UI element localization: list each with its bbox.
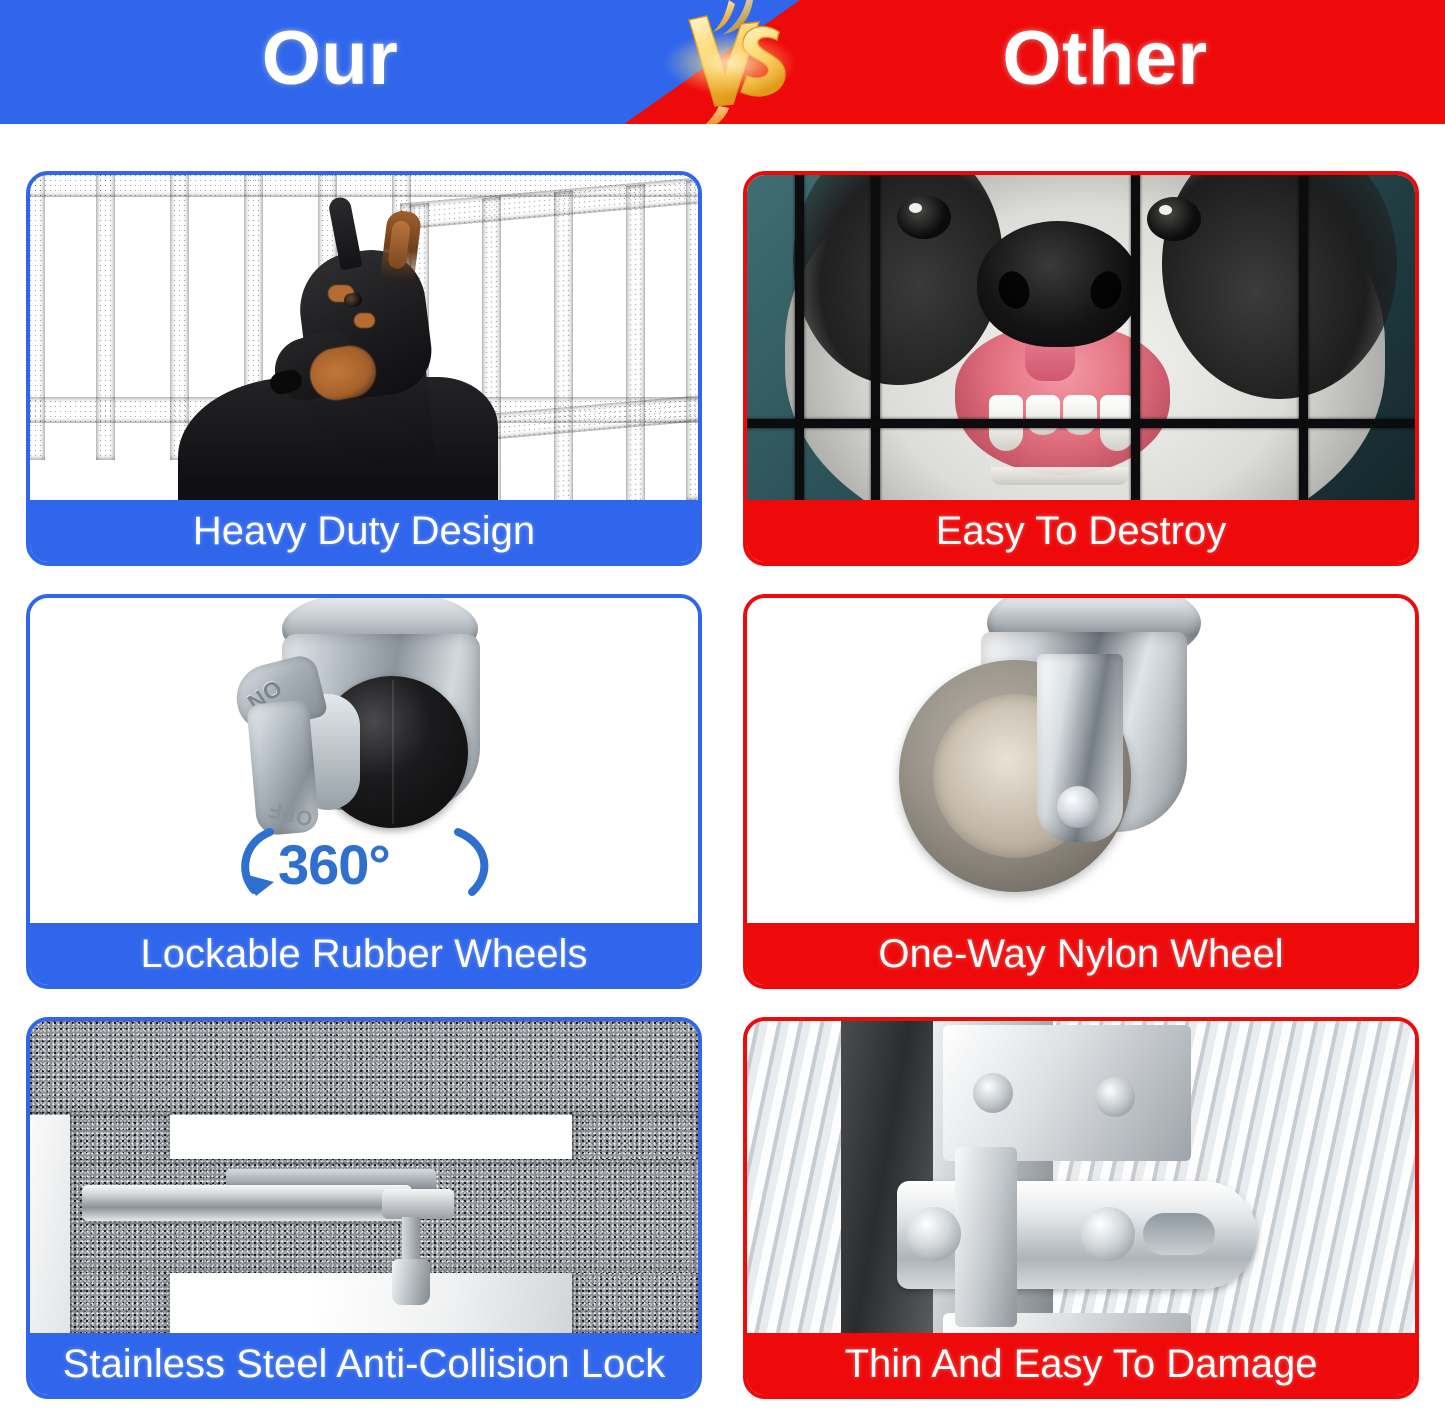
our-caption-anticollision-lock: Stainless Steel Anti-Collision Lock	[30, 1333, 698, 1395]
rotation-degrees-label: 360°	[278, 832, 390, 897]
tooth	[1026, 395, 1060, 435]
caster-brake-lever: ON OFF	[236, 662, 322, 834]
comparison-grid: Heavy Duty Design	[0, 124, 1445, 1399]
crate-illustration	[30, 175, 698, 500]
nylon-caster-illustration	[747, 598, 1415, 923]
cage-wire	[871, 175, 880, 500]
bolt-stem	[402, 1217, 420, 1265]
brake-body: OFF	[246, 700, 319, 837]
header-other-title: Other	[765, 0, 1445, 124]
lockable-caster-photo: ON OFF 360°	[30, 598, 698, 923]
other-card-nylon-wheel: One-Way Nylon Wheel	[743, 594, 1419, 989]
other-card-thin-latch: Thin And Easy To Damage	[743, 1017, 1419, 1399]
lock-panel	[30, 1093, 70, 1333]
header-banner: Our Other	[0, 0, 1445, 124]
bolt-cap	[392, 1259, 430, 1305]
dog-tan-marking	[354, 313, 375, 328]
nylon-caster-photo	[747, 598, 1415, 923]
husky-eye	[1147, 197, 1201, 241]
header-our-title: Our	[0, 0, 660, 124]
cage-wire	[1131, 175, 1140, 500]
door-bar	[686, 179, 698, 500]
tooth	[1063, 395, 1097, 435]
dog-ear	[380, 209, 422, 283]
sliding-bolt	[82, 1185, 412, 1221]
latch-stud	[1081, 1207, 1135, 1261]
cage-wire	[795, 175, 804, 500]
doberman-dog	[178, 207, 538, 500]
door-bar	[554, 190, 573, 500]
nylon-caster-rivet	[1057, 786, 1099, 828]
comparison-row: Heavy Duty Design	[0, 171, 1445, 566]
husky-eye	[897, 195, 951, 239]
latch-slot	[1143, 1213, 1215, 1255]
other-card-easy-destroy: Easy To Destroy	[743, 171, 1419, 566]
door-bar	[626, 184, 645, 500]
comparison-infographic: Our Other	[0, 0, 1445, 1413]
our-caption-heavy-duty: Heavy Duty Design	[30, 500, 698, 562]
other-caption-thin-latch: Thin And Easy To Damage	[747, 1333, 1415, 1395]
comparison-row: Stainless Steel Anti-Collision Lock	[0, 1017, 1445, 1399]
our-card-heavy-duty: Heavy Duty Design	[26, 171, 702, 566]
latch-screw	[973, 1073, 1013, 1113]
lock-panel	[314, 1271, 614, 1333]
thin-latch-photo	[747, 1021, 1415, 1333]
other-caption-nylon-wheel: One-Way Nylon Wheel	[747, 923, 1415, 985]
latch-stud	[907, 1207, 961, 1261]
our-caption-lockable-wheels: Lockable Rubber Wheels	[30, 923, 698, 985]
rotation-annotation: 360°	[220, 826, 520, 912]
latch-illustration	[747, 1021, 1415, 1333]
frame-bar	[30, 1021, 698, 1115]
comparison-row: ON OFF 360°	[0, 594, 1445, 989]
our-card-lockable-wheels: ON OFF 360°	[26, 594, 702, 989]
other-caption-easy-destroy: Easy To Destroy	[747, 500, 1415, 562]
latch-screw	[1095, 1077, 1135, 1117]
steel-bolt-lock-photo	[30, 1021, 698, 1333]
husky-lower-teeth	[991, 467, 1129, 485]
lock-illustration	[30, 1021, 698, 1333]
bolt-knob	[382, 1189, 454, 1219]
latch-tab	[955, 1147, 1017, 1327]
doberman-crate-photo	[30, 175, 698, 500]
our-card-anticollision-lock: Stainless Steel Anti-Collision Lock	[26, 1017, 702, 1399]
husky-biting-cage-photo	[747, 175, 1415, 500]
cage-wire	[1299, 175, 1308, 500]
husky-illustration	[747, 175, 1415, 500]
caster-illustration: ON OFF 360°	[30, 598, 698, 923]
cage-wire	[747, 419, 1415, 428]
